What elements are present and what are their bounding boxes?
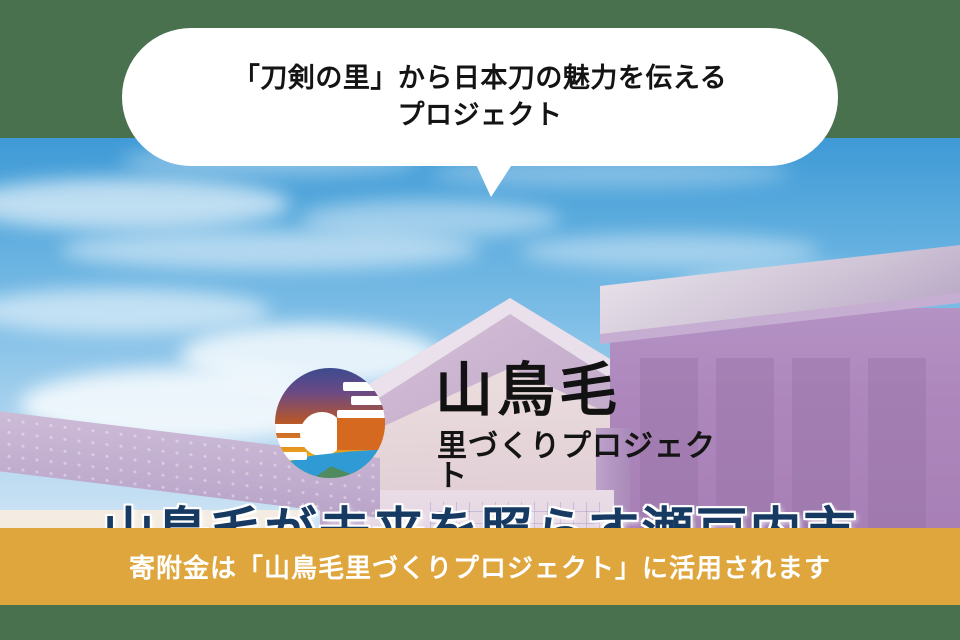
emblem-cloud-bar <box>277 452 307 460</box>
emblem-cloud-bar <box>275 438 313 447</box>
footer-strip <box>0 605 960 640</box>
cloud-shape <box>520 234 820 268</box>
emblem-cloud-bar <box>351 396 385 405</box>
emblem-cloud-bar <box>275 424 311 433</box>
project-logo-title: 山鳥毛 <box>435 362 621 420</box>
emblem-land-block <box>337 416 385 450</box>
emblem-cloud-bar <box>343 382 385 391</box>
callout-bubble: 「刀剣の里」から日本刀の魅力を伝える プロジェクト <box>122 28 838 166</box>
project-logo-subtitle: 里づくりプロジェクト <box>437 432 725 492</box>
callout-tail <box>474 160 515 197</box>
promo-banner: 山鳥毛 里づくりプロジェクト 山鳥毛が未来を照らす瀬戸内市 「刀剣の里」から日本… <box>0 0 960 640</box>
donation-banner: 寄附金は「山鳥毛里づくりプロジェクト」に活用されます <box>0 528 960 608</box>
project-logo: 山鳥毛 里づくりプロジェクト <box>275 366 725 486</box>
donation-banner-text: 寄附金は「山鳥毛里づくりプロジェクト」に活用されます <box>129 548 831 585</box>
callout-text: 「刀剣の里」から日本刀の魅力を伝える プロジェクト <box>233 60 727 135</box>
emblem-cloud-bar <box>361 410 385 418</box>
sunset-mountain-sea-emblem-icon <box>275 368 385 478</box>
hero-tagline: 山鳥毛が未来を照らす瀬戸内市 <box>0 490 960 530</box>
cloud-shape <box>60 230 480 270</box>
